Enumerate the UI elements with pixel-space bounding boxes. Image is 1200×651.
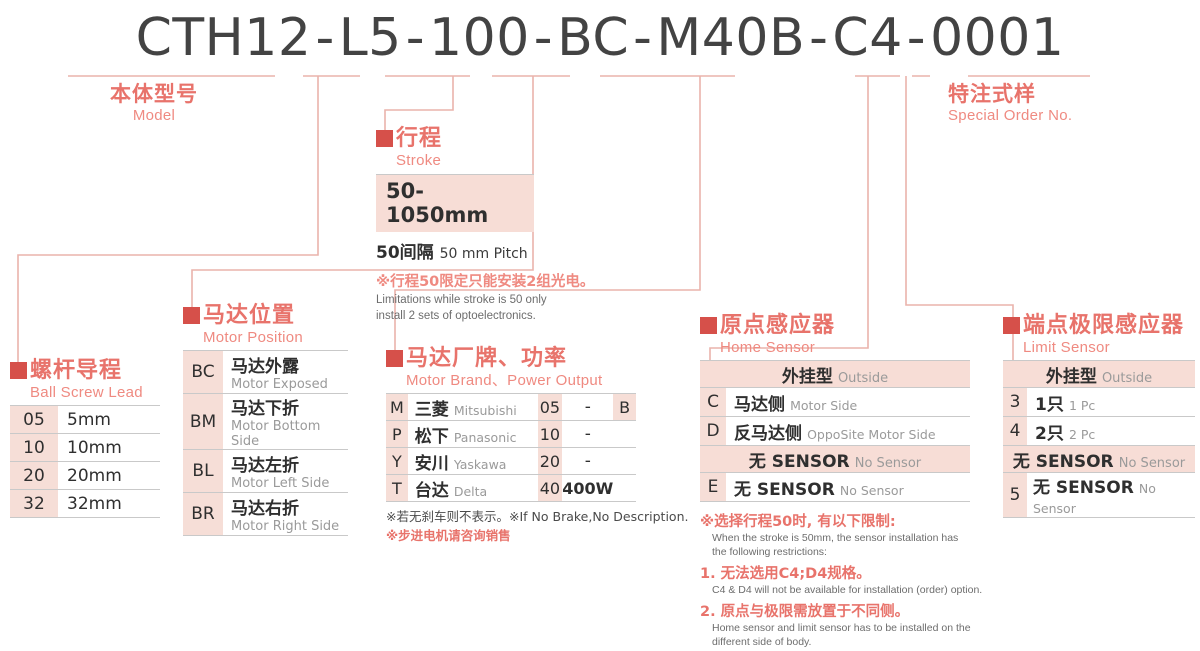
table-row: C 马达侧 Motor Side xyxy=(700,388,970,417)
home-banner-no-sensor: 无 SENSOR No Sensor xyxy=(700,446,970,473)
brand-code: T xyxy=(386,475,408,502)
bullet-square-icon xyxy=(376,130,393,147)
home-value: 反马达侧 OppoSite Motor Side xyxy=(726,417,970,446)
group-lead-title-en: Ball Screw Lead xyxy=(30,385,160,400)
table-row: BC 马达外露 Motor Exposed xyxy=(183,351,348,394)
motor-position-value: 马达左折 Motor Left Side xyxy=(223,450,348,493)
brand-name: 三菱 Mitsubishi xyxy=(408,394,538,421)
group-stroke-title-cn: 行程 xyxy=(396,126,442,151)
group-limit-sensor-title-en: Limit Sensor xyxy=(1023,340,1195,355)
home-code: E xyxy=(700,473,726,502)
brand-name: 台达 Delta xyxy=(408,475,538,502)
motor-position-code: BR xyxy=(183,493,223,536)
motor-position-code: BM xyxy=(183,394,223,450)
table-row: D 反马达侧 OppoSite Motor Side xyxy=(700,417,970,446)
bullet-square-icon xyxy=(183,307,200,324)
brake-code xyxy=(613,448,636,475)
table-row: BR 马达右折 Motor Right Side xyxy=(183,493,348,536)
stroke-note-en: Limitations while stroke is 50 only inst… xyxy=(376,293,606,324)
spec-diagram: CTH12-L5-100-BC-M40B-C4-0001 xyxy=(0,0,1200,605)
table-banner-row: 外挂型 Outside xyxy=(1003,361,1195,388)
table-row: 3 1只 1 Pc xyxy=(1003,388,1195,417)
table-row: 10 10mm xyxy=(10,434,160,462)
group-motor-position-title-en: Motor Position xyxy=(203,330,348,345)
group-home-sensor-title-cn: 原点感应器 xyxy=(720,313,835,338)
bullet-square-icon xyxy=(386,350,403,367)
brake-code xyxy=(613,421,636,448)
limit-value: 无 SENSOR No Sensor xyxy=(1027,473,1195,518)
limit-banner-outside: 外挂型 Outside xyxy=(1003,361,1195,388)
stroke-pitch-cn: 50间隔 xyxy=(376,243,434,263)
table-row: M 三菱 Mitsubishi 05 - B xyxy=(386,394,636,421)
group-special-order-title-cn: 特注式样 xyxy=(948,82,1036,106)
stroke-pitch: 50间隔 50 mm Pitch xyxy=(376,238,606,263)
brand-code: P xyxy=(386,421,408,448)
home-sensor-table: 外挂型 Outside C 马达侧 Motor Side D 反马达侧 Oppo… xyxy=(700,360,970,502)
stroke-range-value: 50-1050mm xyxy=(376,174,534,232)
limit-value: 1只 1 Pc xyxy=(1027,388,1195,417)
group-motor-brand-title-en: Motor Brand、Power Output xyxy=(406,373,688,388)
table-row: T 台达 Delta 40 400W xyxy=(386,475,636,502)
limit-sensor-table: 外挂型 Outside 3 1只 1 Pc 4 2只 2 Pc xyxy=(1003,360,1195,518)
table-row: Y 安川 Yaskawa 20 - xyxy=(386,448,636,475)
limitation-title-en: When the stroke is 50mm, the sensor inst… xyxy=(712,532,1000,559)
home-sensor-limitations: ※选择行程50时, 有以下限制: When the stroke is 50mm… xyxy=(700,510,1000,649)
motor-position-value: 马达外露 Motor Exposed xyxy=(223,351,348,394)
limit-banner-no-sensor: 无 SENSOR No Sensor xyxy=(1003,446,1195,473)
limit-code: 5 xyxy=(1003,473,1027,518)
group-motor-position: 马达位置 Motor Position BC 马达外露 Motor Expose… xyxy=(183,305,348,536)
limitation-item-2-cn: 2. 原点与极限需放置于不同侧。 xyxy=(700,600,1000,621)
limitation-item-1-cn: 1. 无法选用C4;D4规格。 xyxy=(700,562,1000,583)
lead-value: 20mm xyxy=(58,462,160,490)
motor-position-code: BC xyxy=(183,351,223,394)
brand-name: 松下 Panasonic xyxy=(408,421,538,448)
footnote-stepper-cn: ※步进电机请咨询销售 xyxy=(386,528,511,543)
motor-position-value: 马达右折 Motor Right Side xyxy=(223,493,348,536)
group-special-order-title-en: Special Order No. xyxy=(948,108,1072,123)
table-banner-row: 外挂型 Outside xyxy=(700,361,970,388)
stroke-note-cn: ※行程50限定只能安装2组光电。 xyxy=(376,270,606,291)
motor-brand-footnote-2: ※步进电机请咨询销售 xyxy=(386,527,688,545)
group-special-order: 特注式样 Special Order No. xyxy=(948,84,1072,123)
limitation-title-cn: ※选择行程50时, 有以下限制: xyxy=(700,510,1000,531)
table-row: 4 2只 2 Pc xyxy=(1003,417,1195,446)
group-stroke-title-en: Stroke xyxy=(396,153,606,168)
motor-brand-table: M 三菱 Mitsubishi 05 - B P 松下 Panasonic 10… xyxy=(386,393,636,502)
power-code: 40 xyxy=(538,475,563,502)
footnote-en: ※If No Brake,No Description. xyxy=(509,509,688,524)
power-code: 10 xyxy=(538,421,563,448)
motor-position-value: 马达下折 Motor Bottom Side xyxy=(223,394,348,450)
home-code: D xyxy=(700,417,726,446)
power-code: 20 xyxy=(538,448,563,475)
table-row: 5 无 SENSOR No Sensor xyxy=(1003,473,1195,518)
stroke-note-en-line1: Limitations while stroke is 50 only xyxy=(376,294,547,306)
group-home-sensor-title-en: Home Sensor xyxy=(720,340,1000,355)
lead-value: 32mm xyxy=(58,490,160,518)
power-code: 05 xyxy=(538,394,563,421)
lead-value: 10mm xyxy=(58,434,160,462)
power-value: - xyxy=(562,448,613,475)
group-model: 本体型号 Model xyxy=(110,84,198,123)
lead-code: 32 xyxy=(10,490,58,518)
group-motor-brand: 马达厂牌、功率 Motor Brand、Power Output M 三菱 Mi… xyxy=(386,348,688,545)
table-row: E 无 SENSOR No Sensor xyxy=(700,473,970,502)
motor-position-table: BC 马达外露 Motor Exposed BM 马达下折 Motor Bott… xyxy=(183,350,348,536)
limitation-item-2-en: Home sensor and limit sensor has to be i… xyxy=(712,622,1000,649)
bullet-square-icon xyxy=(1003,317,1020,334)
group-stroke: 行程 Stroke 50-1050mm 50间隔 50 mm Pitch ※行程… xyxy=(376,128,606,324)
lead-code: 10 xyxy=(10,434,58,462)
brake-code xyxy=(613,475,636,502)
table-row: 32 32mm xyxy=(10,490,160,518)
power-value: - xyxy=(562,421,613,448)
lead-code: 05 xyxy=(10,406,58,434)
bullet-square-icon xyxy=(10,362,27,379)
footnote-cn: ※若无刹车则不表示。 xyxy=(386,509,509,524)
brand-code: Y xyxy=(386,448,408,475)
home-value: 马达侧 Motor Side xyxy=(726,388,970,417)
table-row: BL 马达左折 Motor Left Side xyxy=(183,450,348,493)
table-banner-row: 无 SENSOR No Sensor xyxy=(700,446,970,473)
stroke-note-en-line2: install 2 sets of optoelectronics. xyxy=(376,310,536,322)
group-motor-brand-title-cn: 马达厂牌、功率 xyxy=(406,346,567,371)
power-value: 400W xyxy=(562,475,613,502)
limitation-item-1-en: C4 & D4 will not be available for instal… xyxy=(712,584,1000,598)
group-lead-title-cn: 螺杆导程 xyxy=(30,358,122,383)
group-model-title-en: Model xyxy=(110,108,198,123)
brand-code: M xyxy=(386,394,408,421)
bullet-square-icon xyxy=(700,317,717,334)
table-banner-row: 无 SENSOR No Sensor xyxy=(1003,446,1195,473)
group-ball-screw-lead: 螺杆导程 Ball Screw Lead 05 5mm 10 10mm 20 2… xyxy=(10,360,160,518)
lead-code: 20 xyxy=(10,462,58,490)
motor-position-code: BL xyxy=(183,450,223,493)
brake-code: B xyxy=(613,394,636,421)
limit-code: 3 xyxy=(1003,388,1027,417)
table-row: 05 5mm xyxy=(10,406,160,434)
limit-value: 2只 2 Pc xyxy=(1027,417,1195,446)
table-row: 20 20mm xyxy=(10,462,160,490)
home-value: 无 SENSOR No Sensor xyxy=(726,473,970,502)
group-limit-sensor-title-cn: 端点极限感应器 xyxy=(1023,313,1184,338)
home-code: C xyxy=(700,388,726,417)
table-row: P 松下 Panasonic 10 - xyxy=(386,421,636,448)
home-banner-outside: 外挂型 Outside xyxy=(700,361,970,388)
group-limit-sensor: 端点极限感应器 Limit Sensor 外挂型 Outside 3 1只 1 … xyxy=(1003,315,1195,518)
stroke-pitch-en: 50 mm Pitch xyxy=(440,246,528,262)
lead-value: 5mm xyxy=(58,406,160,434)
motor-brand-footnote-1: ※若无刹车则不表示。※If No Brake,No Description. xyxy=(386,508,688,526)
table-row: BM 马达下折 Motor Bottom Side xyxy=(183,394,348,450)
ball-screw-lead-table: 05 5mm 10 10mm 20 20mm 32 32mm xyxy=(10,405,160,518)
brand-name: 安川 Yaskawa xyxy=(408,448,538,475)
group-motor-position-title-cn: 马达位置 xyxy=(203,303,295,328)
group-model-title-cn: 本体型号 xyxy=(110,82,198,106)
group-home-sensor: 原点感应器 Home Sensor 外挂型 Outside C 马达侧 Moto… xyxy=(700,315,1000,651)
power-value: - xyxy=(562,394,613,421)
limit-code: 4 xyxy=(1003,417,1027,446)
